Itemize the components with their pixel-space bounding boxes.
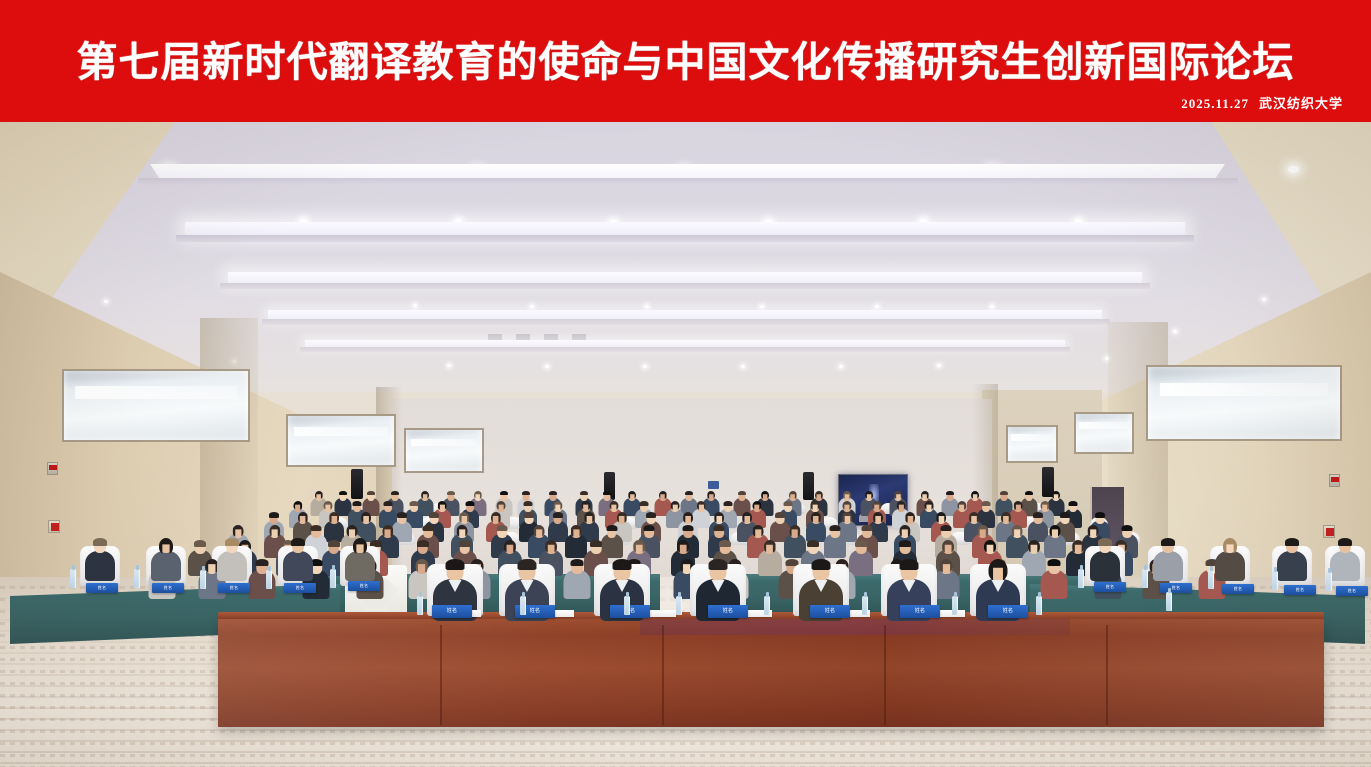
person-hair (1161, 538, 1175, 546)
nameplate-text: 姓名 (1284, 587, 1316, 593)
screenshot-root: 第七届新时代翻译教育的使命与中国文化传播研究生创新国际论坛 2025.11.27… (0, 0, 1371, 767)
nameplate-text: 姓名 (86, 585, 118, 591)
person-hair (397, 512, 407, 518)
audience-person (564, 559, 591, 599)
person-hair (1033, 512, 1043, 518)
water-bottle (1078, 569, 1084, 588)
person-hair (812, 559, 831, 570)
side-table-person (1153, 538, 1183, 584)
side-table-nameplate: 姓名 (218, 583, 250, 593)
person-hair (1068, 501, 1077, 506)
head-table-sheen (218, 619, 1324, 727)
person-torso (1330, 551, 1360, 581)
person-hair (603, 491, 611, 495)
person-torso (1277, 551, 1307, 581)
water-bottle (1326, 572, 1332, 591)
water-bottle (624, 596, 630, 615)
side-table-nameplate: 姓名 (1160, 583, 1192, 593)
person-hair (1122, 525, 1133, 531)
conference-photo: { "rows": [ {"y":379,"x0":318,"x1":1055,… (0, 122, 1371, 767)
side-table-nameplate: 姓名 (1094, 582, 1126, 592)
person-torso (1090, 551, 1120, 581)
audience-person (1041, 559, 1068, 599)
person-hair (256, 559, 269, 566)
side-table-person (217, 538, 247, 584)
person-torso (85, 551, 115, 581)
head-table-seam (1106, 625, 1108, 725)
head-table-nameplate: 姓名 (900, 605, 940, 618)
audience-person (1044, 525, 1066, 558)
person-hair (714, 525, 725, 531)
water-bottle (1272, 571, 1278, 590)
person-hair (862, 525, 873, 531)
person-hair (685, 491, 693, 495)
person-hair (1025, 491, 1033, 495)
nameplate-text: 姓名 (348, 583, 380, 589)
side-table-nameplate: 姓名 (1222, 584, 1254, 594)
person-hair (518, 559, 537, 570)
water-bottle (676, 596, 682, 615)
person-hair (941, 525, 952, 531)
person-hair (423, 525, 434, 531)
person-torso (758, 550, 782, 575)
head-table-nameplate: 姓名 (708, 605, 748, 618)
person-torso (1215, 551, 1245, 581)
head-table-seam (884, 625, 886, 725)
person-hair (807, 540, 819, 547)
nameplate-text: 姓名 (152, 585, 184, 591)
person-hair (571, 559, 584, 566)
event-date: 2025.11.27 (1181, 96, 1249, 111)
nameplate-text: 姓名 (432, 608, 472, 614)
person-hair (500, 491, 508, 495)
person-hair (580, 491, 588, 495)
water-bottle (862, 596, 868, 615)
person-hair (446, 559, 465, 570)
side-table-nameplate: 姓名 (86, 583, 118, 593)
water-bottle (1166, 592, 1172, 611)
person-torso (151, 551, 181, 581)
person-hair (291, 538, 305, 546)
side-table-person (1277, 538, 1307, 584)
audience-person (824, 525, 846, 558)
person-hair (524, 512, 534, 518)
nameplate-text: 姓名 (1222, 586, 1254, 592)
event-banner: 第七届新时代翻译教育的使命与中国文化传播研究生创新国际论坛 2025.11.27… (0, 0, 1371, 122)
person-hair (1285, 538, 1299, 546)
person-torso (217, 551, 247, 581)
person-hair (447, 491, 455, 495)
water-bottle (1142, 569, 1148, 588)
person-hair (194, 540, 206, 547)
person-hair (391, 491, 399, 495)
document-paper (646, 610, 676, 617)
person-hair (384, 501, 393, 506)
water-bottle (764, 596, 770, 615)
person-hair (640, 501, 649, 506)
person-hair (553, 512, 563, 518)
audience-person (758, 540, 782, 576)
side-table-person (151, 538, 181, 584)
side-table-nameplate: 姓名 (348, 581, 380, 591)
water-bottle (200, 570, 206, 589)
nameplate-text: 姓名 (900, 608, 940, 614)
person-hair (1338, 538, 1352, 546)
person-hair (524, 501, 533, 506)
water-bottle (1036, 596, 1042, 615)
person-hair (900, 559, 919, 570)
person-hair (643, 525, 654, 531)
person-hair (352, 501, 361, 506)
person-hair (410, 501, 419, 506)
person-hair (830, 525, 841, 531)
person-hair (1060, 512, 1070, 518)
person-hair (590, 540, 602, 547)
person-hair (339, 491, 347, 495)
person-hair (723, 501, 732, 506)
person-hair (899, 540, 911, 547)
person-torso (564, 570, 591, 598)
side-table-person (1330, 538, 1360, 584)
person-hair (855, 540, 867, 547)
water-bottle (417, 596, 423, 615)
side-table-nameplate: 姓名 (1336, 586, 1368, 596)
person-hair (646, 512, 656, 518)
water-bottle (70, 569, 76, 588)
person-hair (311, 525, 322, 531)
person-hair (367, 491, 375, 495)
event-venue: 武汉纺织大学 (1259, 96, 1343, 111)
nameplate-text: 姓名 (1094, 584, 1126, 590)
nameplate-text: 姓名 (988, 608, 1028, 614)
side-table-nameplate: 姓名 (284, 583, 316, 593)
nameplate-text: 姓名 (1160, 585, 1192, 591)
person-hair (1095, 512, 1105, 518)
person-hair (549, 491, 557, 495)
person-hair (946, 491, 954, 495)
side-table-person (1090, 538, 1120, 584)
person-hair (1048, 559, 1061, 566)
person-hair (497, 525, 508, 531)
person-hair (682, 525, 693, 531)
side-table-person (85, 538, 115, 584)
event-title: 第七届新时代翻译教育的使命与中国文化传播研究生创新国际论坛 (0, 28, 1371, 88)
side-table-nameplate: 姓名 (152, 583, 184, 593)
nameplate-text: 姓名 (810, 608, 850, 614)
person-hair (738, 491, 746, 495)
side-table-nameplate: 姓名 (1284, 585, 1316, 595)
person-hair (269, 512, 279, 518)
person-hair (981, 501, 990, 506)
person-hair (417, 540, 429, 547)
nameplate-text: 姓名 (610, 608, 650, 614)
person-hair (328, 540, 340, 547)
person-hair (775, 512, 785, 518)
event-subtitle: 2025.11.27武汉纺织大学 (1181, 93, 1343, 112)
person-hair (429, 512, 439, 518)
nameplate-text: 姓名 (218, 585, 250, 591)
head-table-seam (662, 625, 664, 725)
water-bottle (266, 570, 272, 589)
person-hair (1098, 538, 1112, 546)
water-bottle (952, 596, 958, 615)
document-paper (937, 610, 965, 617)
audience-person (806, 512, 826, 542)
head-table-nameplate: 姓名 (988, 605, 1028, 618)
head-table-nameplate: 姓名 (432, 605, 472, 618)
person-torso (283, 551, 313, 581)
person-hair (522, 491, 530, 495)
person-hair (606, 525, 617, 531)
person-hair (225, 538, 239, 546)
side-table-person (283, 538, 313, 584)
person-hair (93, 538, 107, 546)
person-torso (1153, 551, 1183, 581)
person-hair (613, 559, 632, 570)
nameplate-text: 姓名 (284, 585, 316, 591)
head-table-nameplate: 姓名 (810, 605, 850, 618)
water-bottle (330, 569, 336, 588)
head-table-nameplate: 姓名 (610, 605, 650, 618)
water-bottle (134, 569, 140, 588)
person-hair (709, 559, 728, 570)
water-bottle (520, 596, 526, 615)
person-hair (459, 540, 471, 547)
side-table-person (345, 538, 375, 584)
person-hair (719, 540, 731, 547)
side-table-person (1215, 538, 1245, 584)
person-hair (784, 501, 793, 506)
head-table-seam (440, 625, 442, 725)
person-hair (1000, 491, 1008, 495)
person-hair (466, 501, 475, 506)
nameplate-text: 姓名 (1336, 588, 1368, 594)
nameplate-text: 姓名 (708, 608, 748, 614)
person-torso (1041, 570, 1068, 598)
water-bottle (1208, 570, 1214, 589)
person-torso (345, 551, 375, 581)
